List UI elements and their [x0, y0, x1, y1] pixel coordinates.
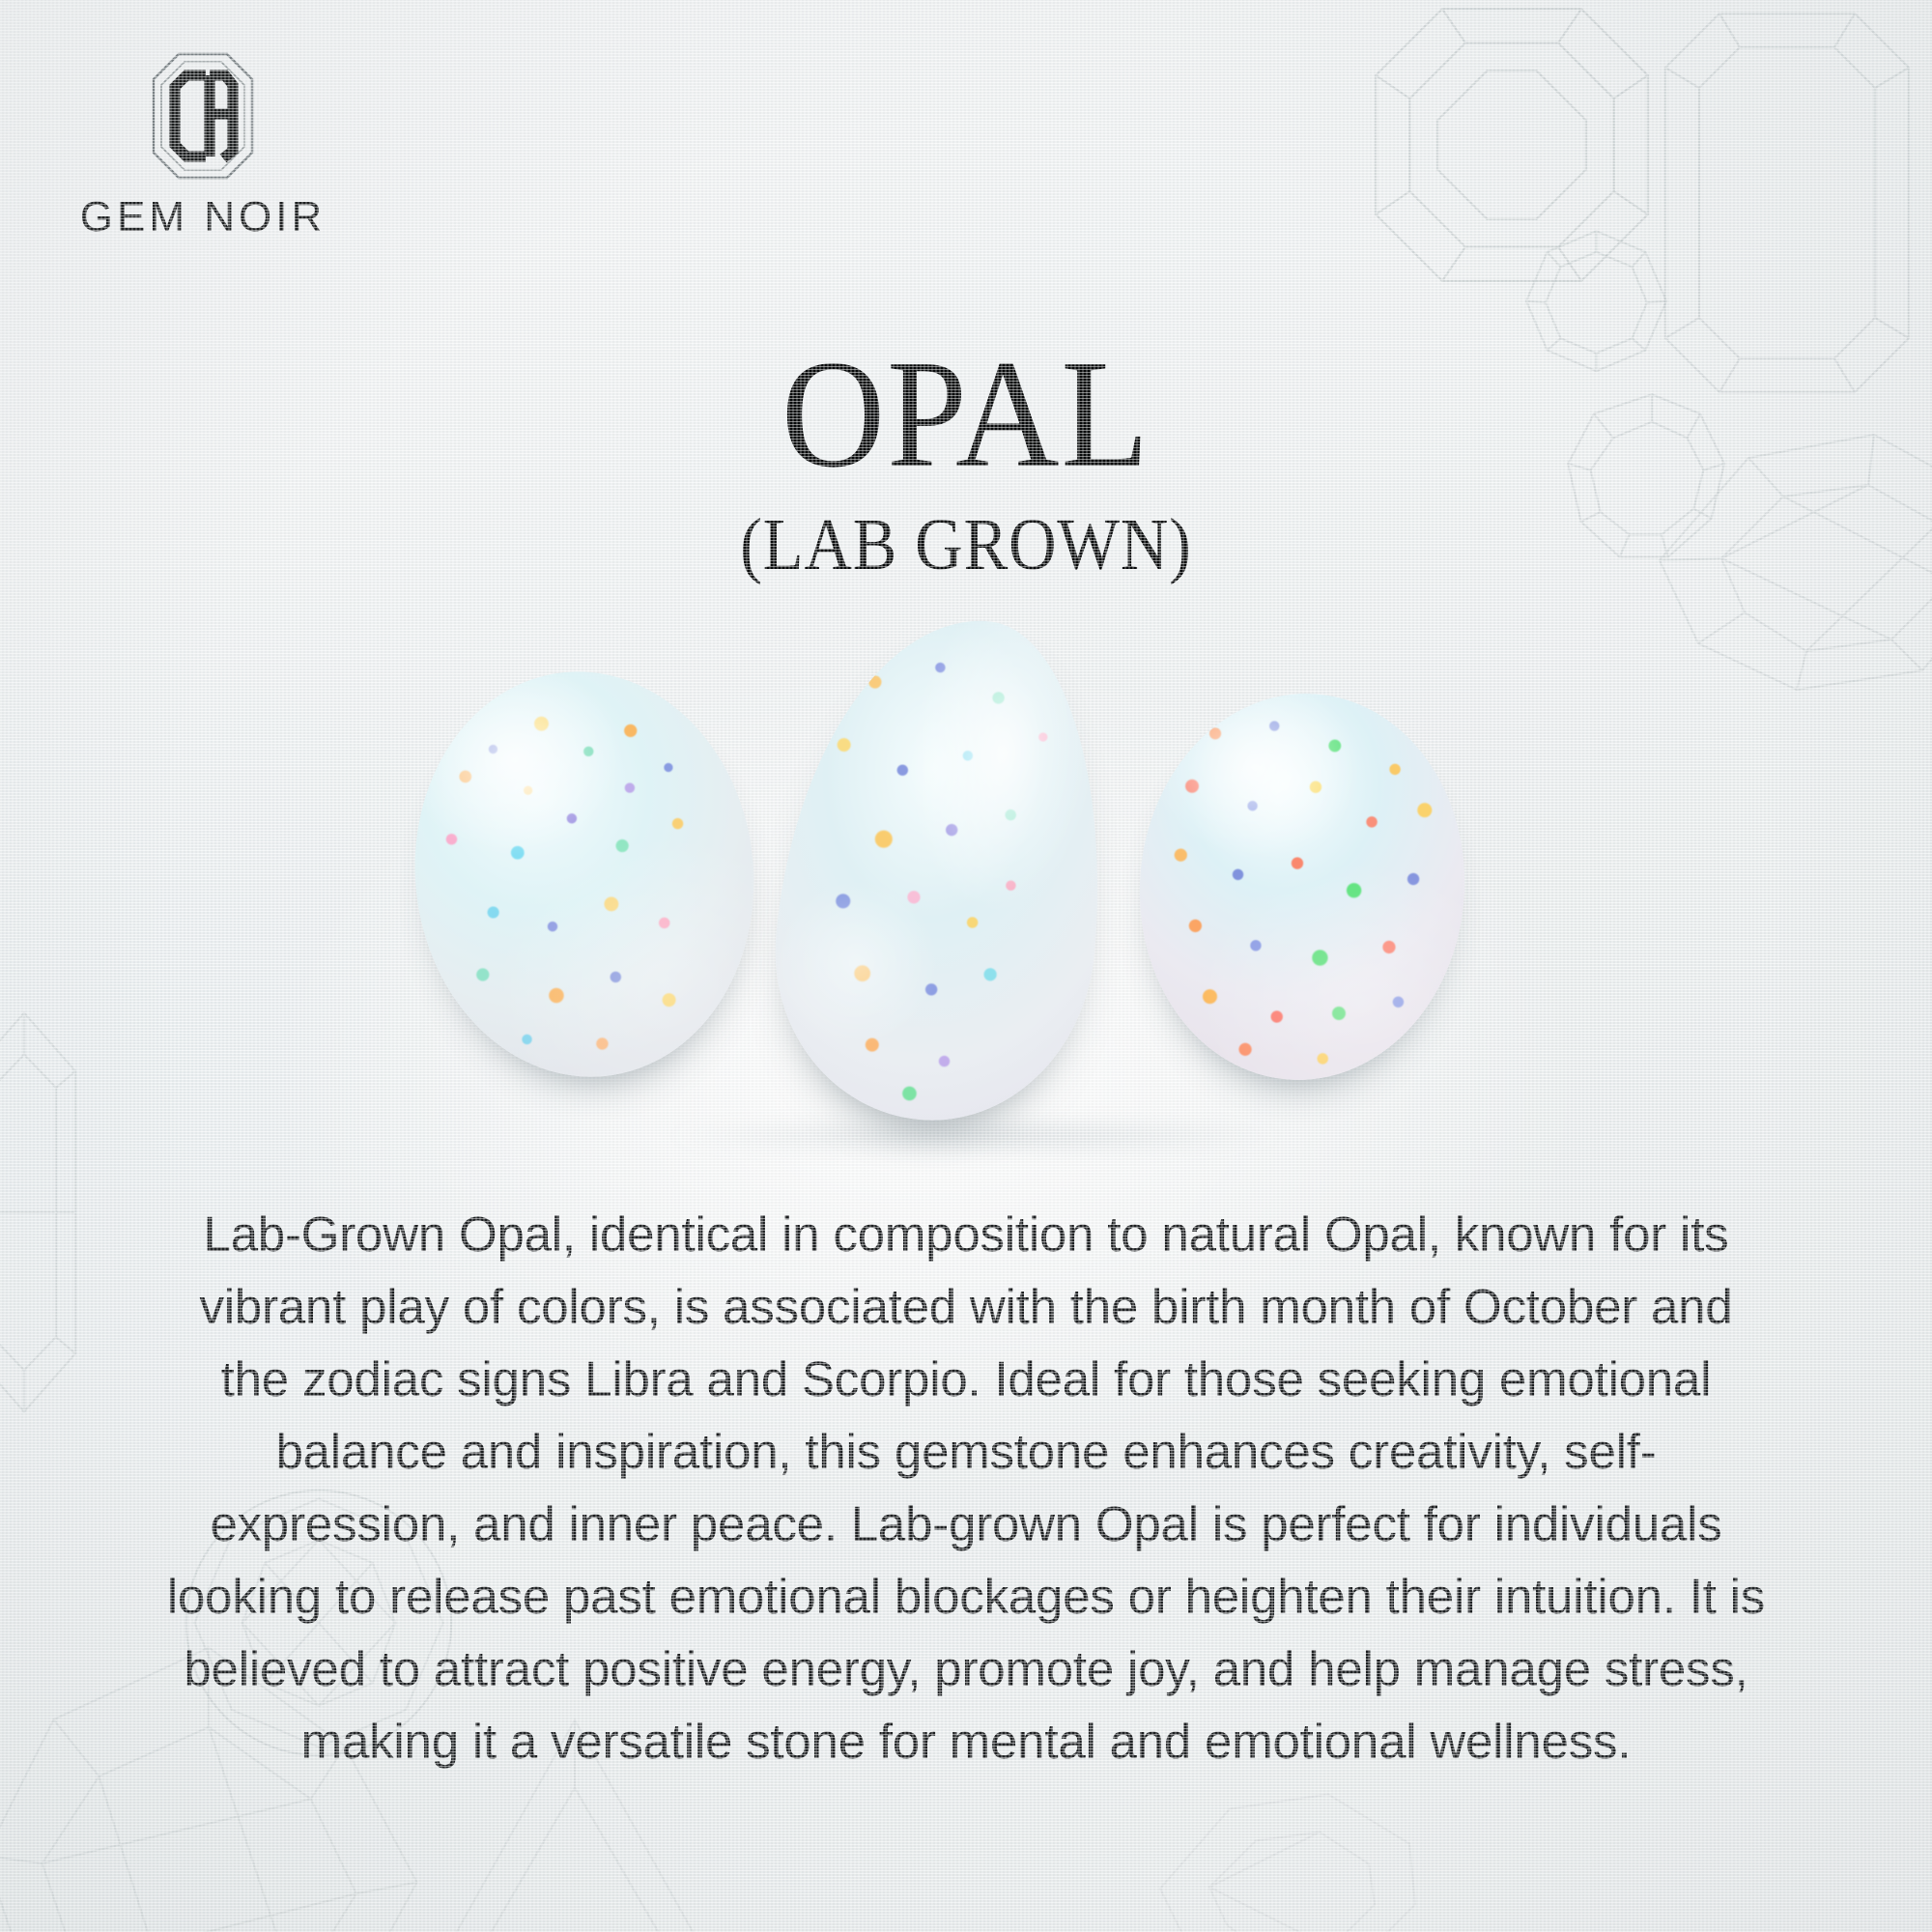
opal-oval-cabochon-left	[395, 655, 774, 1094]
brand-logo: GEM NOIR	[58, 50, 348, 241]
page-title: OPAL	[68, 340, 1864, 487]
page-subtitle: (LAB GROWN)	[97, 508, 1835, 582]
opal-pear-cabochon-center	[761, 606, 1122, 1134]
marquise-cut-gem-watermark	[1140, 1777, 1430, 1932]
gemstone-group	[0, 618, 1932, 1159]
gemstone-description: Lab-Grown Opal, identical in composition…	[164, 1199, 1768, 1778]
opal-round-cabochon-right	[1126, 683, 1477, 1091]
emerald-cut-octagon-gem-watermark	[1352, 0, 1671, 299]
gem-monogram-icon	[150, 50, 256, 182]
heading-block: OPAL (LAB GROWN)	[0, 340, 1932, 582]
poster-canvas: GEM NOIR OPAL (LAB GROWN) Lab-Grown Opal…	[0, 0, 1932, 1932]
brand-name: GEM NOIR	[58, 193, 348, 241]
